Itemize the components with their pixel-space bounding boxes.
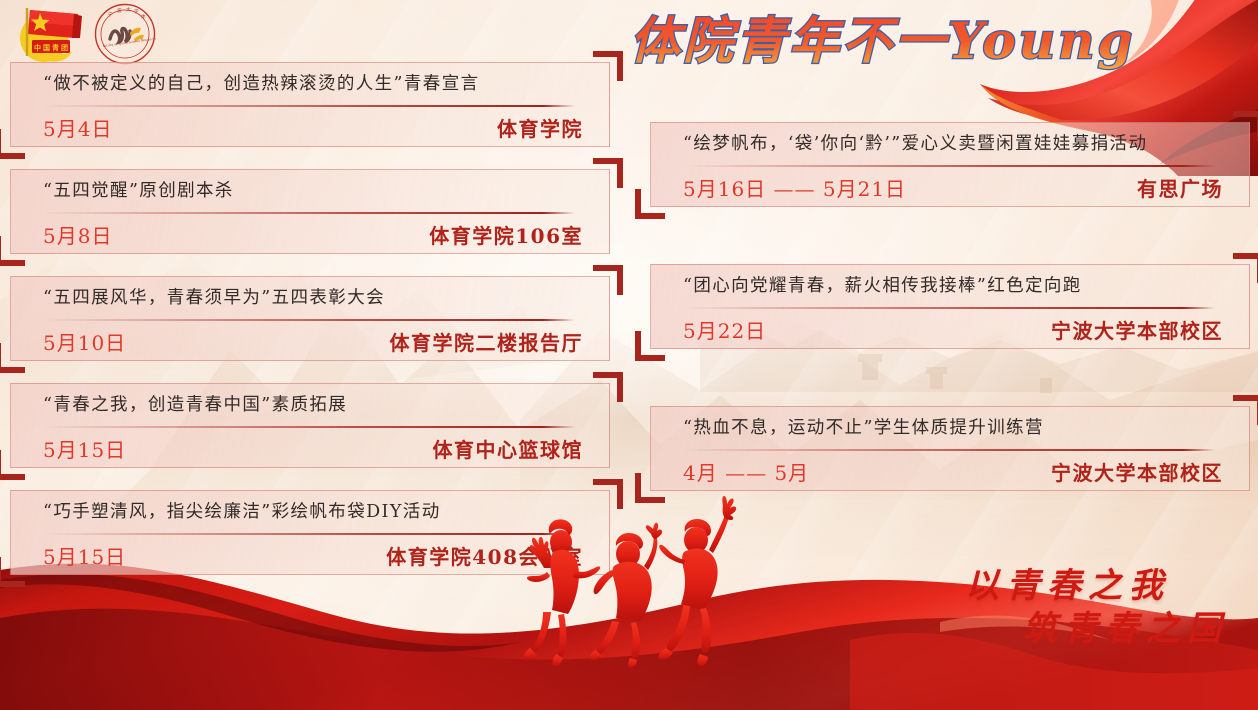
corner-bracket-top-right-icon: [593, 158, 623, 188]
card-divider: [43, 105, 575, 107]
slogan-line-1: 以青春之我: [965, 565, 1170, 609]
svg-text:青: 青: [52, 43, 59, 52]
ningbo-university-sports-faculty-logo-icon: 宁波大学体 Faculty of Sports Science Ningbo U…: [94, 3, 156, 65]
corner-bracket-top-right-icon: [1233, 395, 1258, 425]
activity-venue: 体育学院106室: [429, 220, 583, 249]
corner-bracket-bottom-left-icon: [635, 189, 665, 219]
activity-venue: 宁波大学本部校区: [1051, 315, 1223, 344]
svg-text:体: 体: [141, 13, 146, 20]
card-divider: [683, 165, 1215, 167]
card-footer: 5月8日 体育学院106室: [43, 220, 583, 249]
activity-card[interactable]: “青春之我，创造青春中国”素质拓展 5月15日 体育中心篮球馆: [10, 383, 610, 468]
activity-card[interactable]: “团心向党耀青春，薪火相传我接棒”红色定向跑 5月22日 宁波大学本部校区: [650, 264, 1250, 349]
activity-date: 5月10日: [43, 327, 126, 356]
svg-text:学: 学: [134, 8, 139, 15]
card-footer: 5月4日 体育学院: [43, 113, 583, 142]
corner-bracket-bottom-left-icon: [0, 450, 25, 480]
youth-figure-right: [658, 496, 736, 666]
activity-date: 5月15日: [43, 434, 126, 463]
svg-text:国: 国: [43, 43, 50, 52]
activity-title: “五四展风华，青春须早为”五四表彰大会: [43, 288, 587, 310]
corner-bracket-top-right-icon: [593, 372, 623, 402]
corner-bracket-bottom-left-icon: [0, 343, 25, 373]
activity-title: “巧手塑清风，指尖绘廉洁”彩绘帆布袋DIY活动: [43, 502, 587, 524]
card-footer: 5月15日 体育中心篮球馆: [43, 434, 583, 463]
corner-bracket-top-right-icon: [593, 265, 623, 295]
activity-card[interactable]: “巧手塑清风，指尖绘廉洁”彩绘帆布袋DIY活动 5月15日 体育学院408会议室: [10, 490, 610, 575]
activity-venue: 体育学院: [497, 113, 583, 142]
card-divider: [683, 307, 1215, 309]
activity-venue: 体育中心篮球馆: [433, 434, 584, 463]
corner-bracket-bottom-left-icon: [0, 557, 25, 587]
activity-title: “做不被定义的自己，创造热辣滚烫的人生”青春宣言: [43, 74, 587, 96]
svg-text:中: 中: [34, 43, 41, 52]
activity-date: 5月16日 —— 5月21日: [683, 173, 906, 202]
activity-venue: 宁波大学本部校区: [1051, 457, 1223, 486]
card-divider: [43, 533, 575, 535]
card-divider: [683, 449, 1215, 451]
corner-bracket-bottom-left-icon: [635, 473, 665, 503]
activity-title: “热血不息，运动不止”学生体质提升训练营: [683, 418, 1227, 440]
activity-title: “团心向党耀青春，薪火相传我接棒”红色定向跑: [683, 276, 1227, 298]
activity-title: “绘梦帆布，‘袋’你向‘黔’”爱心义卖暨闲置娃娃募捐活动: [683, 134, 1227, 156]
activity-date: 4月 —— 5月: [683, 457, 809, 486]
card-footer: 5月10日 体育学院二楼报告厅: [43, 327, 583, 356]
corner-bracket-top-right-icon: [1233, 111, 1258, 141]
corner-bracket-top-right-icon: [593, 479, 623, 509]
card-footer: 5月22日 宁波大学本部校区: [683, 315, 1223, 344]
svg-text:宁: 宁: [108, 11, 113, 18]
activity-card[interactable]: “五四展风华，青春须早为”五四表彰大会 5月10日 体育学院二楼报告厅: [10, 276, 610, 361]
activity-date: 5月15日: [43, 541, 126, 570]
communist-youth-league-emblem-icon: 中国青团: [10, 4, 88, 64]
corner-bracket-bottom-left-icon: [0, 236, 25, 266]
activity-date: 5月4日: [43, 113, 112, 142]
corner-bracket-top-right-icon: [593, 51, 623, 81]
card-footer: 4月 —— 5月 宁波大学本部校区: [683, 457, 1223, 486]
right-activity-column: “绘梦帆布，‘袋’你向‘黔’”爱心义卖暨闲置娃娃募捐活动 5月16日 —— 5月…: [650, 122, 1250, 513]
corner-bracket-bottom-left-icon: [635, 331, 665, 361]
card-divider: [43, 426, 575, 428]
svg-text:团: 团: [61, 43, 68, 52]
corner-bracket-top-right-icon: [1233, 253, 1258, 283]
activity-card[interactable]: “五四觉醒”原创剧本杀 5月8日 体育学院106室: [10, 169, 610, 254]
activity-date: 5月22日: [683, 315, 766, 344]
left-activity-column: “做不被定义的自己，创造热辣滚烫的人生”青春宣言 5月4日 体育学院 “五四觉醒…: [10, 62, 610, 597]
card-divider: [43, 212, 575, 214]
slogan-line-2: 筑青春之国: [965, 608, 1228, 652]
card-divider: [43, 319, 575, 321]
poster-headline: 体院青年不一Young 体院青年不一Young: [620, 6, 1160, 82]
corner-bracket-bottom-left-icon: [0, 129, 25, 159]
headline-text: 体院青年不一Young: [630, 11, 1135, 70]
activity-title: “五四觉醒”原创剧本杀: [43, 181, 587, 203]
activity-card[interactable]: “绘梦帆布，‘袋’你向‘黔’”爱心义卖暨闲置娃娃募捐活动 5月16日 —— 5月…: [650, 122, 1250, 207]
activity-venue: 体育学院408会议室: [386, 541, 583, 570]
svg-text:大: 大: [126, 6, 131, 13]
logo-group: 中国青团 宁波大学体 Faculty of Sports Science Nin…: [6, 2, 196, 66]
activity-card[interactable]: “热血不息，运动不止”学生体质提升训练营 4月 —— 5月 宁波大学本部校区: [650, 406, 1250, 491]
svg-text:波: 波: [117, 7, 122, 14]
activity-title: “青春之我，创造青春中国”素质拓展: [43, 395, 587, 417]
activity-venue: 体育学院二楼报告厅: [390, 327, 584, 356]
activity-venue: 有思广场: [1137, 173, 1223, 202]
activity-date: 5月8日: [43, 220, 112, 249]
svg-text:体院青年不一Young: 体院青年不一Young: [630, 80, 1135, 86]
activity-card[interactable]: “做不被定义的自己，创造热辣滚烫的人生”青春宣言 5月4日 体育学院: [10, 62, 610, 147]
card-footer: 5月15日 体育学院408会议室: [43, 541, 583, 570]
poster-slogan: 以青春之我 筑青春之国: [965, 565, 1170, 652]
card-footer: 5月16日 —— 5月21日 有思广场: [683, 173, 1223, 202]
